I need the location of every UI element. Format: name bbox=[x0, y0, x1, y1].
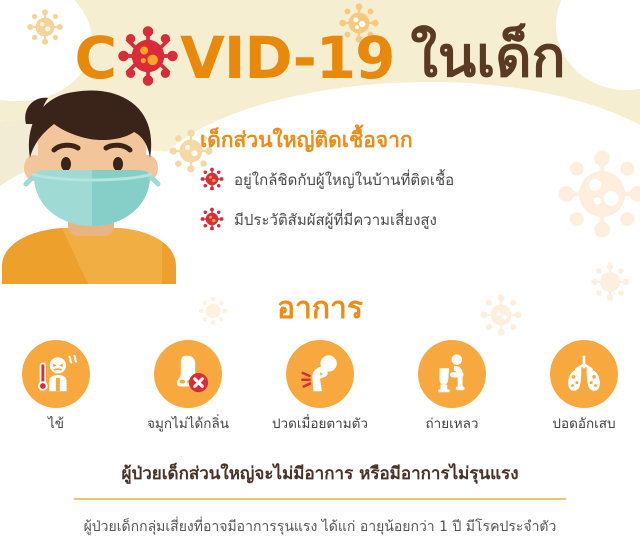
symptom-label: ถ่ายเหลว bbox=[397, 416, 507, 432]
fever-thermometer-icon bbox=[22, 340, 90, 408]
symptoms-row: ไข้ จมูกไม่ได้กลิ่น bbox=[0, 340, 640, 432]
list-item-label: อยู่ใกล้ชิดกับผู้ใหญ่ในบ้านที่ติดเชื้อ bbox=[234, 171, 454, 191]
transmission-section: เด็กส่วนใหญ่ติดเชื้อจาก bbox=[200, 128, 620, 247]
virus-icon-title-o bbox=[117, 25, 179, 91]
diarrhea-toilet-icon bbox=[418, 340, 486, 408]
body-ache-icon bbox=[286, 340, 354, 408]
virus-icon bbox=[200, 167, 224, 195]
symptom-item: ปวดเมื่อยตามตัว bbox=[265, 340, 375, 432]
title-thai-suffix: ในเด็ก bbox=[411, 30, 566, 86]
lungs-pneumonia-icon bbox=[550, 340, 618, 408]
virus-icon bbox=[200, 207, 224, 235]
symptom-label: ปอดอักเสบ bbox=[529, 416, 639, 432]
title-brand-suffix: VID-19 bbox=[180, 29, 394, 87]
infographic-poster: C bbox=[0, 0, 640, 549]
symptom-label: ไข้ bbox=[1, 416, 111, 432]
child-wearing-mask-illustration bbox=[0, 84, 192, 288]
symptom-item: ถ่ายเหลว bbox=[397, 340, 507, 432]
list-item: มีประวัติสัมผัสผู้ที่มีความเสี่ยงสูง bbox=[200, 207, 620, 235]
note-secondary: ผู้ป่วยเด็กกลุ่มเสี่ยงที่อาจมีอาการรุนแร… bbox=[0, 516, 640, 538]
transmission-bullet-list: อยู่ใกล้ชิดกับผู้ใหญ่ในบ้านที่ติดเชื้อ bbox=[200, 167, 620, 235]
symptom-item: ไข้ bbox=[1, 340, 111, 432]
transmission-heading: เด็กส่วนใหญ่ติดเชื้อจาก bbox=[200, 128, 620, 153]
nose-no-smell-icon bbox=[154, 340, 222, 408]
list-item: อยู่ใกล้ชิดกับผู้ใหญ่ในบ้านที่ติดเชื้อ bbox=[200, 167, 620, 195]
symptom-label: จมูกไม่ได้กลิ่น bbox=[133, 416, 243, 432]
title-brand-prefix: C bbox=[74, 29, 116, 87]
symptoms-heading: อาการ bbox=[0, 285, 640, 332]
divider bbox=[74, 498, 566, 500]
note-primary: ผู้ป่วยเด็กส่วนใหญ่จะไม่มีอาการ หรือมีอา… bbox=[0, 460, 640, 487]
symptom-item: ปอดอักเสบ bbox=[529, 340, 639, 432]
symptom-label: ปวดเมื่อยตามตัว bbox=[265, 416, 375, 432]
list-item-label: มีประวัติสัมผัสผู้ที่มีความเสี่ยงสูง bbox=[234, 211, 437, 231]
symptom-item: จมูกไม่ได้กลิ่น bbox=[133, 340, 243, 432]
